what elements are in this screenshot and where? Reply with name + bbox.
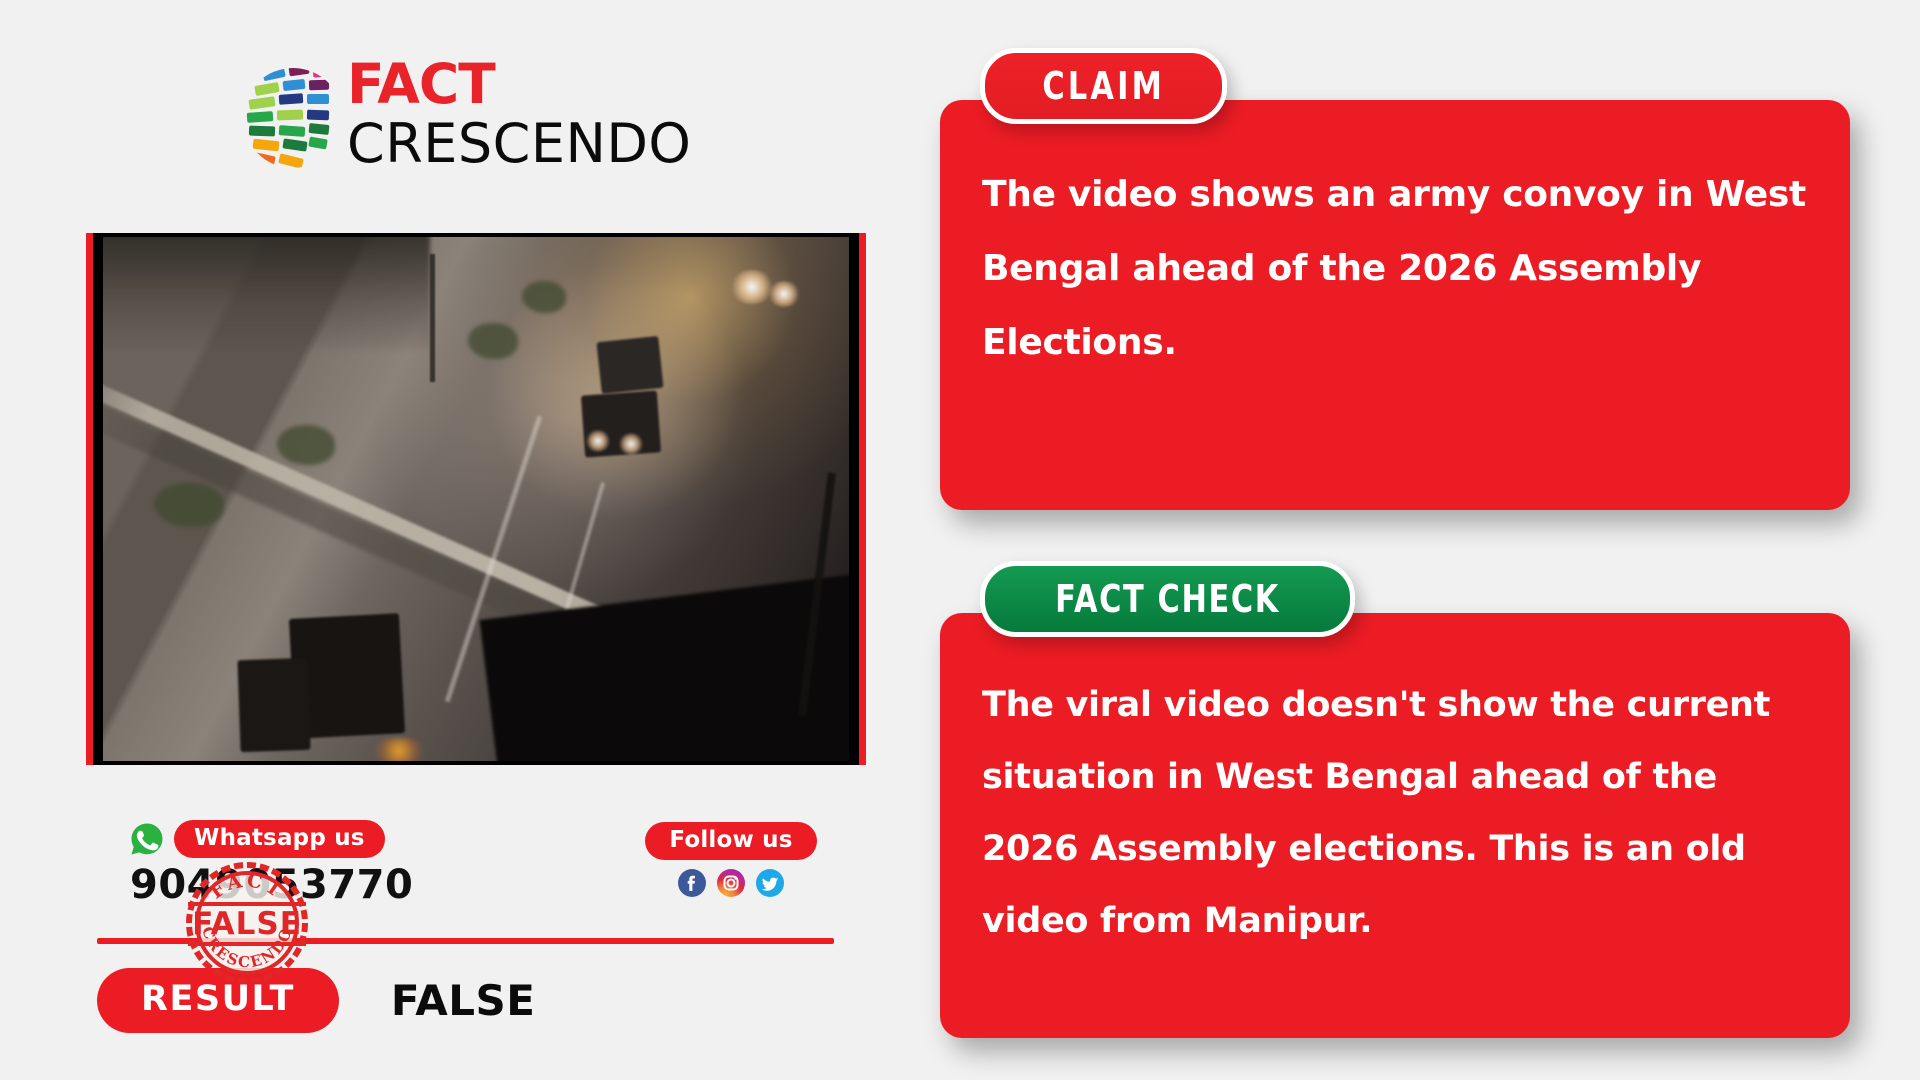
- globe-bricks-icon: [235, 58, 343, 178]
- whatsapp-us-label[interactable]: Whatsapp us: [174, 820, 385, 858]
- right-column: The video shows an army convoy in West B…: [930, 0, 1920, 1080]
- scene-tree: [154, 483, 224, 527]
- facebook-icon[interactable]: [677, 868, 707, 898]
- claim-card: The video shows an army convoy in West B…: [940, 100, 1850, 510]
- scene-tree: [468, 323, 518, 359]
- video-letterbox-top: [93, 233, 859, 237]
- factcheck-text: The viral video doesn't show the current…: [982, 669, 1814, 957]
- scene-headlight: [618, 433, 644, 455]
- poster-canvas: FACT CRESCENDO: [0, 0, 1920, 1080]
- follow-us-block: Follow us: [631, 822, 831, 898]
- scene-headlight: [767, 281, 801, 307]
- scene-headlight: [585, 430, 611, 452]
- false-stamp: FACT CRESCENDO FALSE: [184, 860, 310, 986]
- brand-logo: FACT CRESCENDO: [235, 52, 705, 187]
- claim-text: The video shows an army convoy in West B…: [982, 158, 1814, 380]
- result-value: FALSE: [391, 976, 536, 1025]
- brand-name-crescendo: CRESCENDO: [347, 114, 691, 174]
- factcheck-badge-label: FACT CHECK: [1055, 579, 1280, 619]
- video-thumbnail[interactable]: FACT CRESCENDO FALSE: [86, 233, 866, 765]
- scene-shopfronts: [93, 233, 430, 350]
- social-icons-row: [631, 868, 831, 898]
- video-letterbox-left: [93, 233, 103, 765]
- whatsapp-line[interactable]: Whatsapp us: [130, 820, 385, 858]
- scene-military-vehicle: [237, 657, 310, 751]
- video-frame: [93, 233, 859, 765]
- scene-military-vehicle: [596, 336, 663, 394]
- scene-tree: [277, 425, 335, 465]
- claim-badge-label: CLAIM: [1042, 66, 1165, 106]
- result-row: RESULT FALSE: [97, 968, 535, 1033]
- whatsapp-icon: [130, 822, 164, 856]
- scene-tree: [522, 281, 566, 313]
- instagram-icon[interactable]: [716, 868, 746, 898]
- brand-name-fact: FACT: [347, 54, 495, 114]
- twitter-icon[interactable]: [755, 868, 785, 898]
- svg-text:FALSE: FALSE: [192, 906, 302, 942]
- scene-light-pole: [430, 254, 435, 382]
- video-letterbox-bottom: [93, 761, 859, 765]
- video-red-edge-left: [86, 233, 93, 765]
- brand-wordmark: FACT CRESCENDO: [347, 52, 707, 187]
- claim-badge: CLAIM: [980, 48, 1227, 124]
- video-red-edge-right: [859, 233, 866, 765]
- left-column: FACT CRESCENDO: [0, 0, 930, 1080]
- factcheck-badge: FACT CHECK: [980, 561, 1355, 637]
- video-letterbox-right: [849, 233, 859, 765]
- factcheck-card: The viral video doesn't show the current…: [940, 613, 1850, 1038]
- follow-us-label[interactable]: Follow us: [645, 822, 816, 860]
